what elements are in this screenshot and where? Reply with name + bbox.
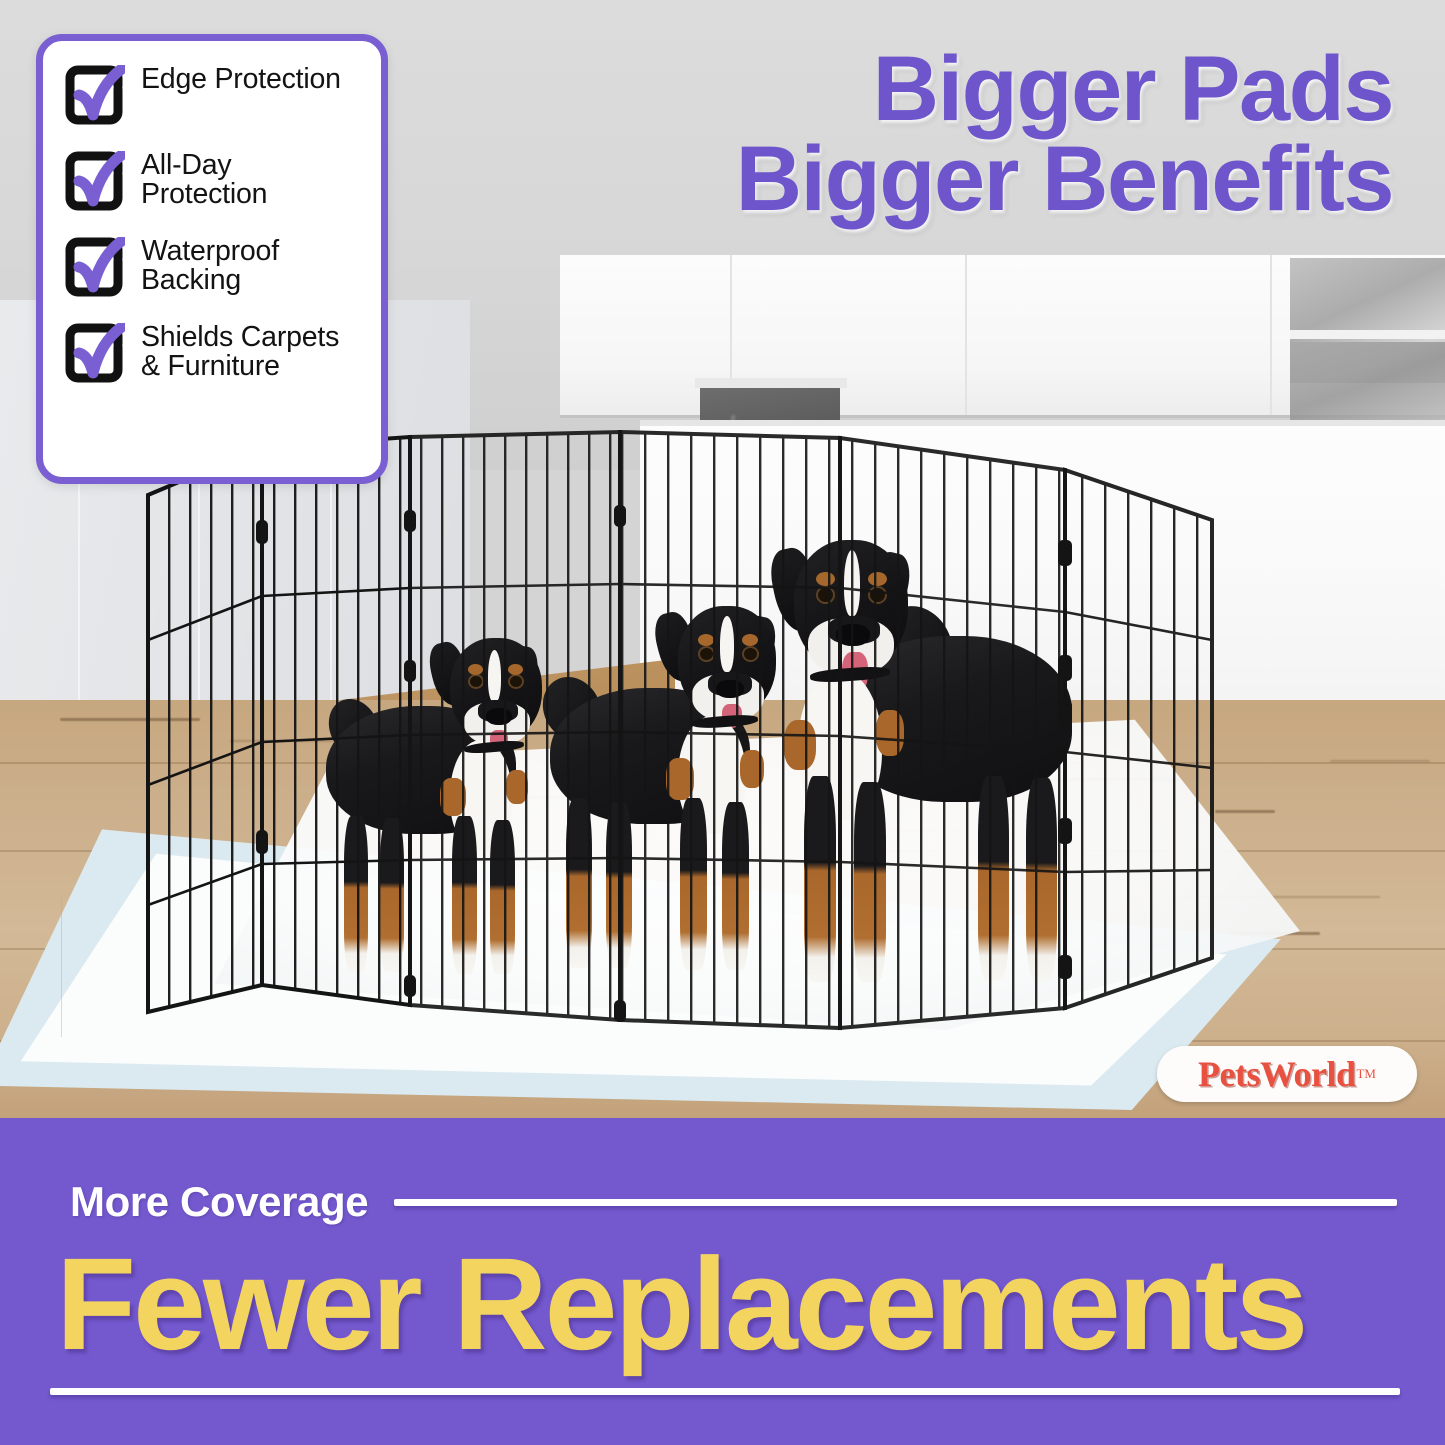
- feature-item-shields-carpets-furniture: Shields Carpets & Furniture: [63, 321, 363, 385]
- banner-headline: Fewer Replacements: [56, 1238, 1409, 1369]
- product-poster: Bigger Pads Bigger Benefits Edge Protect…: [0, 0, 1445, 1445]
- feature-label: Waterproof Backing: [141, 235, 363, 295]
- dog-left: [300, 620, 550, 980]
- marble-top-edge: [695, 378, 847, 388]
- feature-label: All-Day Protection: [141, 149, 363, 209]
- banner-bottom-rule: [50, 1388, 1400, 1395]
- feature-highlights-card: Edge Protection All-Day Protection W: [36, 34, 388, 484]
- banner-eyebrow-row: More Coverage: [70, 1178, 1397, 1226]
- feature-label: Edge Protection: [141, 63, 341, 94]
- feature-item-all-day-protection: All-Day Protection: [63, 149, 363, 213]
- brand-name: PetsWorld: [1198, 1053, 1355, 1095]
- dog-right: [760, 520, 1100, 990]
- glass-shelf: [1290, 330, 1445, 339]
- brand-logo: PetsWorldTM: [1157, 1046, 1417, 1102]
- feature-item-edge-protection: Edge Protection: [63, 63, 363, 127]
- banner-top-rule: [394, 1199, 1397, 1206]
- banner-eyebrow-text: More Coverage: [70, 1178, 368, 1226]
- checkbox-checked-icon: [63, 237, 125, 299]
- checkbox-checked-icon: [63, 65, 125, 127]
- pad-fold-line: [61, 897, 62, 1037]
- trademark-symbol: TM: [1356, 1066, 1376, 1082]
- checkbox-checked-icon: [63, 323, 125, 385]
- counter-edge: [640, 420, 1445, 426]
- feature-label: Shields Carpets & Furniture: [141, 321, 363, 381]
- checkbox-checked-icon: [63, 151, 125, 213]
- feature-item-waterproof-backing: Waterproof Backing: [63, 235, 363, 299]
